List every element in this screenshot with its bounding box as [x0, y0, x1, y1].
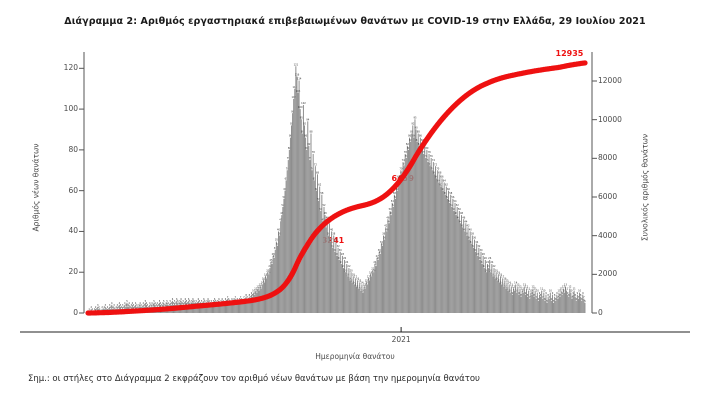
bar: [540, 297, 541, 313]
bar-value-label: 22: [347, 265, 351, 268]
bar-value-label: 78: [404, 151, 408, 154]
bar: [360, 291, 361, 313]
bar: [508, 291, 509, 313]
bar: [466, 236, 467, 313]
bar: [568, 297, 569, 313]
bar: [267, 272, 268, 313]
bar: [548, 297, 549, 313]
bar: [427, 162, 428, 313]
bar: [399, 183, 400, 314]
chart-footnote: Σημ.: οι στήλες στο Διάγραμμα 2 εκφράζου…: [28, 374, 688, 384]
bar: [302, 134, 303, 313]
bar-value-label: 22: [493, 265, 497, 268]
bar: [345, 272, 346, 313]
bar: [373, 272, 374, 313]
bar-value-label: 72: [434, 163, 438, 166]
bar: [374, 264, 375, 313]
bar: [512, 295, 513, 313]
bar: [382, 246, 383, 313]
bar: [550, 293, 551, 313]
bar: [419, 146, 420, 313]
bar: [291, 125, 292, 313]
bar: [487, 264, 488, 313]
bar: [294, 89, 295, 313]
bar-value-label: 40: [469, 229, 473, 232]
bar: [503, 286, 504, 313]
bar: [390, 211, 391, 313]
bar-value-label: 76: [430, 155, 434, 158]
bar: [287, 170, 288, 313]
bar: [395, 199, 396, 313]
bar-value-label: 95: [300, 116, 304, 119]
bar: [426, 150, 427, 313]
bar: [571, 299, 572, 313]
bar: [318, 201, 319, 313]
bar: [230, 305, 231, 313]
bar: [296, 76, 297, 313]
bar: [489, 260, 490, 313]
bar: [456, 215, 457, 313]
bar: [430, 166, 431, 313]
bar: [308, 146, 309, 313]
bar-value-label: 46: [386, 216, 390, 219]
bar: [277, 246, 278, 313]
bar: [344, 260, 345, 313]
bar: [364, 286, 365, 313]
bar: [328, 236, 329, 313]
bar-value-label: 86: [408, 135, 412, 138]
bar-value-label: 94: [306, 118, 310, 121]
bar: [288, 160, 289, 313]
bar: [530, 293, 531, 313]
bar-value-label: 68: [316, 171, 320, 174]
bar: [412, 125, 413, 313]
bar: [573, 295, 574, 313]
bar: [278, 231, 279, 313]
bar: [534, 297, 535, 313]
bar: [490, 272, 491, 313]
bar: [275, 250, 276, 313]
bar: [383, 236, 384, 313]
bar-value-label: 38: [382, 233, 386, 236]
bar-value-label: 60: [447, 188, 451, 191]
bar: [452, 199, 453, 313]
bar: [420, 138, 421, 313]
bar: [259, 291, 260, 313]
bar: [553, 303, 554, 313]
bar: [400, 170, 401, 313]
bar: [545, 295, 546, 313]
bar: [269, 268, 270, 313]
bar: [281, 215, 282, 313]
bar-value-label: 70: [436, 167, 440, 170]
bar: [451, 207, 452, 313]
bar: [322, 221, 323, 313]
bar: [326, 227, 327, 313]
bar: [301, 119, 302, 313]
bar: [465, 223, 466, 313]
bar: [392, 203, 393, 313]
bar-value-label: 70: [399, 167, 403, 170]
bar-value-label: 35: [275, 239, 279, 242]
bar: [352, 282, 353, 313]
bar: [293, 99, 294, 313]
bar: [484, 268, 485, 313]
bar: [317, 174, 318, 313]
bar-value-label: 54: [454, 200, 458, 203]
bar: [321, 195, 322, 313]
bar: [475, 252, 476, 313]
bar: [444, 183, 445, 314]
bar: [524, 286, 525, 313]
bar: [429, 154, 430, 313]
bar-value-label: 28: [341, 253, 345, 256]
bar: [460, 223, 461, 313]
bar-value-label: 80: [425, 147, 429, 150]
bar-value-label: 102: [301, 102, 306, 105]
bar: [542, 299, 543, 313]
bar-value-label: 56: [451, 196, 455, 199]
bar-value-label: 68: [438, 171, 442, 174]
bar-value-label: 86: [304, 135, 308, 138]
bar-value-label: 64: [443, 180, 447, 183]
bar: [458, 219, 459, 313]
bar: [349, 280, 350, 313]
bar: [523, 293, 524, 313]
bar: [358, 289, 359, 313]
bar: [464, 231, 465, 313]
bar-value-label: 46: [462, 216, 466, 219]
bar: [251, 295, 252, 313]
bar: [497, 280, 498, 313]
bar: [543, 293, 544, 313]
bar: [491, 264, 492, 313]
bar-value-label: 82: [406, 143, 410, 146]
bar: [397, 191, 398, 313]
bar: [527, 297, 528, 313]
bar: [446, 187, 447, 313]
bar: [343, 268, 344, 313]
bar-value-label: 108: [296, 90, 301, 93]
bar: [492, 276, 493, 313]
bar: [513, 289, 514, 313]
bar: [280, 221, 281, 313]
bar: [331, 231, 332, 313]
bar: [393, 207, 394, 313]
bar-value-label: 66: [441, 176, 445, 179]
bar: [348, 268, 349, 313]
bar: [485, 260, 486, 313]
bar-value-label: 100: [298, 106, 303, 109]
bar: [437, 170, 438, 313]
bar-value-label: 38: [332, 233, 336, 236]
bar-value-label: 9: [582, 292, 584, 295]
bar: [421, 150, 422, 313]
bar: [304, 125, 305, 313]
plot-area: 1211213212123121324231232432324353423432…: [0, 0, 710, 402]
bar: [547, 303, 548, 313]
bar-value-label: 58: [449, 192, 453, 195]
bar: [378, 260, 379, 313]
bar: [495, 278, 496, 313]
bar: [279, 236, 280, 313]
bar-value-label: 30: [339, 249, 343, 252]
bar: [505, 289, 506, 313]
bar: [282, 207, 283, 313]
bar-value-label: 35: [334, 239, 338, 242]
bar: [337, 256, 338, 313]
bars-group: 1211213212123121324231232432324353423432…: [87, 63, 586, 313]
bar: [469, 240, 470, 313]
bar: [339, 260, 340, 313]
bar: [292, 113, 293, 313]
bar: [522, 291, 523, 313]
bar-value-label: 92: [411, 123, 415, 126]
bar-value-label: 78: [312, 151, 316, 154]
bar: [414, 119, 415, 313]
bar: [555, 301, 556, 313]
bar: [289, 150, 290, 313]
bar: [276, 242, 277, 313]
bar: [576, 301, 577, 313]
bar-value-label: 116: [295, 74, 300, 77]
bar: [499, 282, 500, 313]
bar: [431, 158, 432, 313]
bar: [424, 146, 425, 313]
bar-value-label: 24: [486, 261, 490, 264]
bar: [401, 174, 402, 313]
bar: [274, 258, 275, 313]
chart-container: Διάγραμμα 2: Αριθμός εργαστηριακά επιβεβ…: [0, 0, 710, 402]
bar: [422, 142, 423, 313]
bar: [316, 191, 317, 313]
bar: [432, 170, 433, 313]
bar: [436, 178, 437, 313]
bar: [408, 150, 409, 313]
bar: [285, 191, 286, 313]
bar: [438, 183, 439, 314]
bar-value-label: 24: [345, 261, 349, 264]
bar: [366, 282, 367, 313]
bar: [379, 252, 380, 313]
bar: [377, 258, 378, 313]
bar: [370, 274, 371, 313]
bar-value-label: 54: [391, 200, 395, 203]
bar: [439, 174, 440, 313]
bar: [544, 301, 545, 313]
bar: [319, 187, 320, 313]
bar-value-label: 38: [471, 233, 475, 236]
bar-value-label: 34: [475, 241, 479, 244]
bar: [581, 301, 582, 313]
bar: [307, 121, 308, 313]
bar-value-label: 114: [297, 78, 302, 81]
bar: [306, 150, 307, 313]
bar: [536, 299, 537, 313]
bar-value-label: 58: [393, 192, 397, 195]
bar: [468, 227, 469, 313]
bar: [557, 299, 558, 313]
bar-value-label: 26: [484, 257, 488, 260]
bar: [380, 254, 381, 313]
bar: [356, 286, 357, 313]
bar-value-label: 88: [417, 131, 421, 134]
bar-value-label: 42: [467, 224, 471, 227]
bar-value-label: 95: [413, 116, 417, 119]
bar: [541, 291, 542, 313]
bar: [560, 297, 561, 313]
bar: [448, 191, 449, 313]
bar: [517, 286, 518, 313]
bar: [450, 195, 451, 313]
bar-value-label: 5: [584, 300, 586, 303]
bar: [256, 293, 257, 313]
bar-value-label: 82: [307, 143, 311, 146]
bar: [283, 199, 284, 313]
bar: [325, 215, 326, 313]
bar-value-label: 52: [456, 204, 460, 207]
bar-value-label: 78: [428, 151, 432, 154]
bar: [455, 203, 456, 313]
bar: [425, 158, 426, 313]
bar-value-label: 20: [350, 269, 354, 272]
bar: [311, 134, 312, 313]
bar: [578, 299, 579, 313]
bar: [510, 293, 511, 313]
bar: [479, 260, 480, 313]
bar: [418, 134, 419, 313]
bar: [528, 291, 529, 313]
bar: [471, 244, 472, 313]
bar: [516, 293, 517, 313]
bar: [531, 295, 532, 313]
bar-value-label: 62: [445, 184, 449, 187]
bar: [449, 203, 450, 313]
bar: [453, 211, 454, 313]
bar-value-label: 12: [568, 286, 572, 289]
bar: [435, 166, 436, 313]
bar: [298, 93, 299, 313]
bar: [445, 195, 446, 313]
bar-value-label: 32: [337, 245, 341, 248]
bar: [539, 295, 540, 313]
bar: [332, 248, 333, 313]
bar-value-label: 24: [490, 261, 494, 264]
bar: [514, 291, 515, 313]
bar-value-label: 52: [323, 204, 327, 207]
bar: [300, 109, 301, 313]
bar: [564, 293, 565, 313]
bar-value-label: 26: [488, 257, 492, 260]
bar: [396, 187, 397, 313]
bar: [518, 295, 519, 313]
bar-value-label: 92: [303, 123, 307, 126]
bar-value-label: 44: [464, 220, 468, 223]
bar: [365, 289, 366, 313]
bar-value-label: 30: [480, 249, 484, 252]
bar: [535, 291, 536, 313]
bar: [368, 278, 369, 313]
bar: [330, 242, 331, 313]
bar-value-label: 121: [294, 63, 299, 66]
bar: [351, 272, 352, 313]
bar: [552, 295, 553, 313]
bar: [442, 178, 443, 313]
bar: [391, 215, 392, 313]
bar: [477, 256, 478, 313]
bar-value-label: 58: [320, 192, 324, 195]
bar: [272, 264, 273, 313]
bar: [584, 303, 585, 313]
bar-value-label: 50: [458, 208, 462, 211]
bar: [375, 266, 376, 313]
bar-value-label: 86: [419, 135, 423, 138]
bar-value-label: 62: [318, 184, 322, 187]
bar: [346, 264, 347, 313]
bar: [538, 301, 539, 313]
bar: [381, 244, 382, 313]
bar: [369, 280, 370, 313]
bar-value-label: 50: [389, 208, 393, 211]
bar: [459, 211, 460, 313]
bar: [362, 293, 363, 313]
bar: [473, 248, 474, 313]
bar: [270, 262, 271, 313]
bar: [341, 264, 342, 313]
bar: [403, 162, 404, 313]
bar: [354, 284, 355, 313]
bar: [567, 295, 568, 313]
bar-value-label: 10: [578, 290, 582, 293]
bar: [314, 180, 315, 313]
bar-value-label: 90: [415, 127, 419, 130]
bar: [398, 178, 399, 313]
bar: [347, 276, 348, 313]
bar: [440, 187, 441, 313]
bar-value-label: 11: [573, 288, 577, 291]
bar: [482, 264, 483, 313]
bar: [372, 270, 373, 313]
bar: [384, 240, 385, 313]
bar: [457, 207, 458, 313]
bar: [526, 289, 527, 313]
bar: [461, 215, 462, 313]
bar-value-label: 36: [473, 237, 477, 240]
bar-value-label: 48: [460, 212, 464, 215]
bar-value-label: 7: [583, 296, 585, 299]
bar: [423, 154, 424, 313]
bar: [286, 180, 287, 313]
bar-value-label: 13: [564, 284, 568, 287]
bar: [386, 231, 387, 313]
bar: [273, 256, 274, 313]
bar: [371, 276, 372, 313]
bar-value-label: 74: [432, 159, 436, 162]
bar: [443, 191, 444, 313]
bar-value-label: 74: [402, 159, 406, 162]
bar-value-label: 32: [477, 245, 481, 248]
bar: [549, 299, 550, 313]
bar: [417, 142, 418, 313]
bar: [486, 272, 487, 313]
bar: [334, 252, 335, 313]
bar: [537, 293, 538, 313]
bar: [501, 284, 502, 313]
bar: [385, 227, 386, 313]
bar-value-label: 26: [343, 257, 347, 260]
bar: [525, 295, 526, 313]
bar: [529, 299, 530, 313]
